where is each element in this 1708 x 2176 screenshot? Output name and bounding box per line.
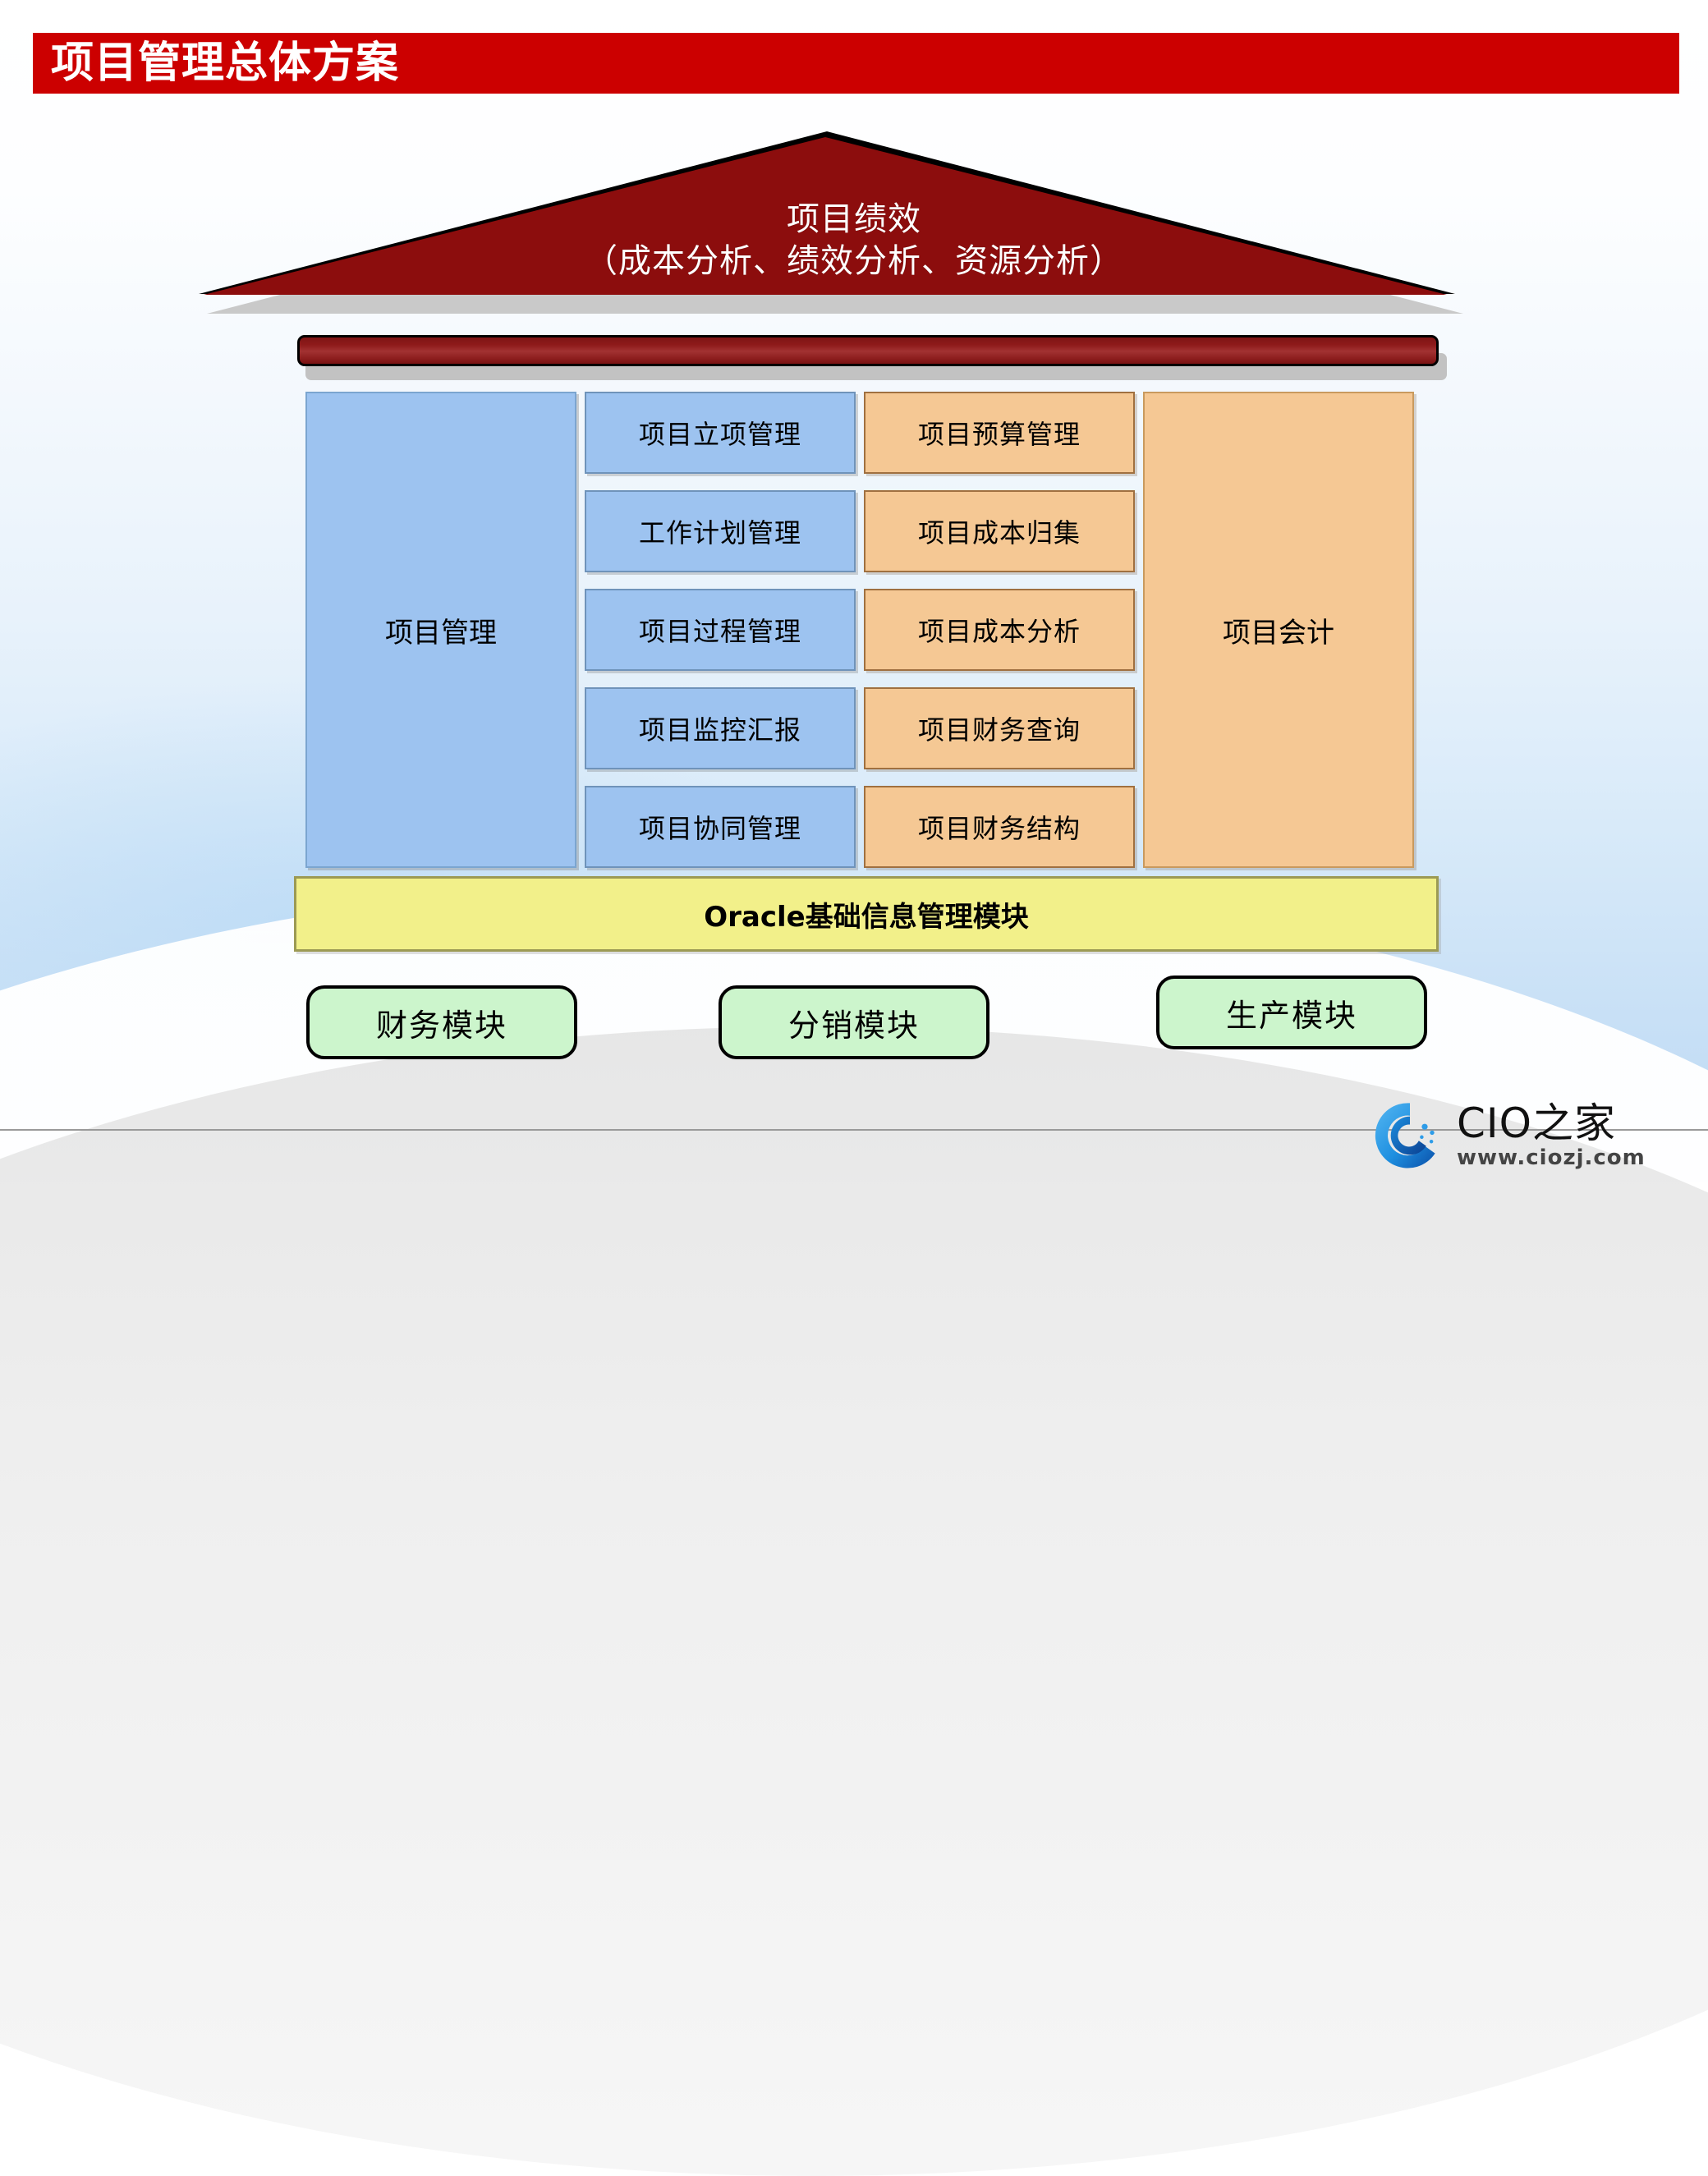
foundation-label-cn: 基础信息管理模块: [806, 901, 1029, 934]
column-project-accounting-label: 项目会计: [1223, 610, 1334, 650]
module-label: 生产模块: [1226, 990, 1357, 1035]
module-box-orange-5[interactable]: 项目财务结构: [864, 786, 1135, 868]
column-project-accounting[interactable]: 项目会计: [1143, 392, 1414, 868]
foundation-bar[interactable]: Oracle基础信息管理模块: [294, 876, 1439, 952]
roof-label-line1: 项目绩效: [0, 199, 1708, 241]
module-label: 项目过程管理: [639, 611, 801, 649]
module-label: 项目财务结构: [918, 808, 1081, 846]
module-label: 项目立项管理: [639, 414, 801, 452]
module-label: 项目财务查询: [918, 709, 1081, 747]
foundation-bar-label: Oracle基础信息管理模块: [704, 894, 1028, 934]
module-label: 项目监控汇报: [639, 709, 801, 747]
module-label: 工作计划管理: [639, 512, 801, 550]
column-project-management[interactable]: 项目管理: [305, 392, 576, 868]
site-logo[interactable]: CIO之家 www.ciozj.com: [1373, 1092, 1701, 1178]
column-project-management-label: 项目管理: [385, 610, 497, 650]
module-label: 项目协同管理: [639, 808, 801, 846]
module-box-orange-3[interactable]: 项目成本分析: [864, 589, 1135, 671]
module-label: 分销模块: [788, 1000, 920, 1045]
roof-label-line2: （成本分析、绩效分析、资源分析）: [0, 241, 1708, 282]
module-box-blue-2[interactable]: 工作计划管理: [585, 490, 856, 572]
cio-circle-logo-icon: [1373, 1099, 1447, 1173]
module-box-production[interactable]: 生产模块: [1156, 976, 1427, 1049]
module-label: 项目成本归集: [918, 512, 1081, 550]
module-box-blue-3[interactable]: 项目过程管理: [585, 589, 856, 671]
logo-text-block: CIO之家 www.ciozj.com: [1457, 1103, 1646, 1168]
module-box-finance[interactable]: 财务模块: [306, 985, 577, 1059]
module-box-distribution[interactable]: 分销模块: [719, 985, 989, 1059]
module-box-orange-4[interactable]: 项目财务查询: [864, 687, 1135, 769]
module-box-blue-4[interactable]: 项目监控汇报: [585, 687, 856, 769]
roof-beam: [297, 335, 1439, 366]
logo-url: www.ciozj.com: [1457, 1147, 1646, 1168]
background-swoosh-gray: [0, 1026, 1708, 2176]
module-box-orange-1[interactable]: 项目预算管理: [864, 392, 1135, 474]
module-label: 财务模块: [376, 1000, 507, 1045]
module-box-orange-2[interactable]: 项目成本归集: [864, 490, 1135, 572]
page-title: 项目管理总体方案: [33, 42, 399, 85]
foundation-label-en: Oracle: [704, 901, 805, 934]
logo-name: CIO之家: [1457, 1103, 1646, 1144]
column-blue-modules: 项目立项管理 工作计划管理 项目过程管理 项目监控汇报 项目协同管理: [585, 392, 856, 868]
house-body: 项目管理 项目立项管理 工作计划管理 项目过程管理 项目监控汇报 项目协同管理 …: [305, 392, 1439, 868]
column-orange-modules: 项目预算管理 项目成本归集 项目成本分析 项目财务查询 项目财务结构: [864, 392, 1135, 868]
module-label: 项目预算管理: [918, 414, 1081, 452]
module-label: 项目成本分析: [918, 611, 1081, 649]
house-roof: 项目绩效 （成本分析、绩效分析、资源分析）: [0, 131, 1708, 370]
slide-title-bar: 项目管理总体方案: [33, 33, 1679, 94]
module-box-blue-1[interactable]: 项目立项管理: [585, 392, 856, 474]
module-box-blue-5[interactable]: 项目协同管理: [585, 786, 856, 868]
roof-label: 项目绩效 （成本分析、绩效分析、资源分析）: [0, 199, 1708, 282]
